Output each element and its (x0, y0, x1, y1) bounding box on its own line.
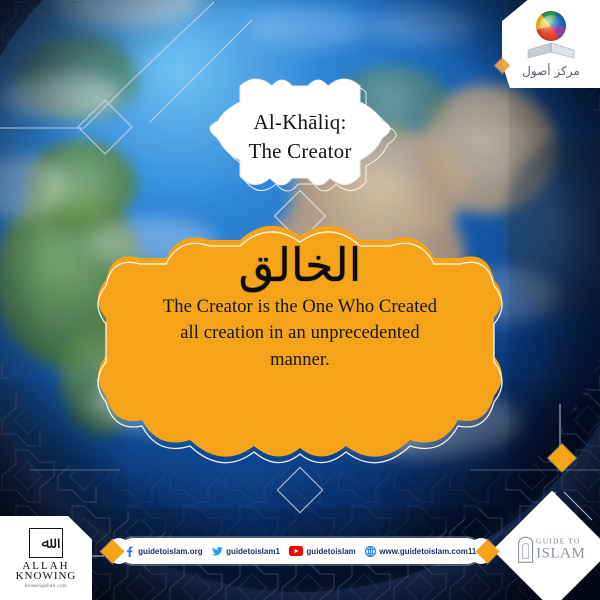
title-line-2: The Creator (248, 139, 351, 164)
title-badge: Al-Khāliq: The Creator (196, 76, 404, 198)
logo-arabic-text: مركز أصول (522, 64, 580, 78)
panel-line-1: The Creator is the One Who Created (135, 294, 465, 320)
guide-to-islam-line2: ISLAM (536, 547, 585, 562)
website-icon (365, 546, 376, 557)
open-book-icon (524, 39, 578, 61)
colored-globe-icon (536, 11, 566, 41)
logo-markaz-usul: مركز أصول (502, 0, 600, 88)
content-panel: الخالق The Creator is the One Who Create… (90, 224, 510, 466)
panel-content: الخالق The Creator is the One Who Create… (90, 224, 510, 466)
facebook-handle: guidetoislam.org (138, 547, 202, 556)
twitter-handle: guidetoislam1 (226, 547, 280, 556)
social-item-twitter[interactable]: guidetoislam1 (212, 546, 280, 557)
social-bar: guidetoislam.org guidetoislam1 guidetois… (120, 538, 480, 564)
social-item-facebook[interactable]: guidetoislam.org (124, 546, 203, 557)
allah-knowing-url: knowingallah.com (25, 583, 67, 588)
website-handle: www.guidetoislam.com11 (379, 547, 476, 556)
title-line-1: Al-Khāliq: (254, 110, 347, 135)
allah-calligraphy-icon: ﷲ (29, 528, 63, 558)
twitter-icon (212, 546, 223, 557)
panel-bottom-connector (268, 462, 332, 522)
panel-line-2: all creation in an unprecedented (135, 320, 465, 346)
panel-description: The Creator is the One Who Created all c… (135, 294, 465, 373)
social-item-youtube[interactable]: guidetoislam (289, 546, 356, 557)
facebook-icon (124, 546, 135, 557)
youtube-handle: guidetoislam (306, 547, 355, 556)
guide-to-islam-line1: GUIDE TO (536, 538, 585, 546)
mihrab-arch-icon (518, 537, 533, 563)
panel-line-3: manner. (135, 347, 465, 373)
arabic-calligraphy: الخالق (239, 242, 362, 288)
social-item-website[interactable]: www.guidetoislam.com11 (365, 546, 477, 557)
poster-canvas: مركز أصول ﷲ ALLAH KNOWING knowingallah.c… (0, 0, 600, 600)
logo-allah-knowing: ﷲ ALLAH KNOWING knowingallah.com (0, 516, 92, 600)
title-text: Al-Khāliq: The Creator (196, 76, 404, 198)
allah-knowing-line2: KNOWING (16, 570, 77, 582)
youtube-icon (289, 546, 303, 557)
